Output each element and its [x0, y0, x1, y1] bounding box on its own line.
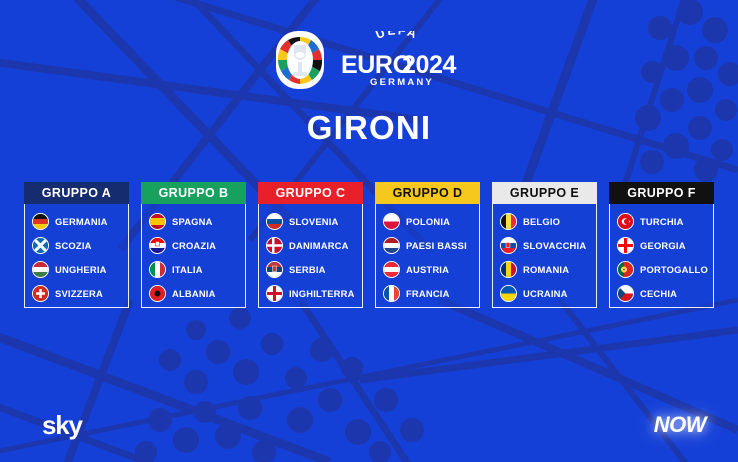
team-name: SCOZIA: [55, 240, 92, 251]
flag-germany-icon: [32, 213, 49, 230]
team-name: PAESI BASSI: [406, 240, 467, 251]
team-name: ITALIA: [172, 264, 203, 275]
team-name: POLONIA: [406, 216, 450, 227]
team-name: CROAZIA: [172, 240, 216, 251]
group-card-d: GRUPPO DPOLONIAPAESI BASSIAUSTRIAFRANCIA: [375, 182, 480, 308]
team-row: SERBIA: [266, 259, 358, 279]
team-row: POLONIA: [383, 211, 475, 231]
team-row: SLOVACCHIA: [500, 235, 592, 255]
flag-denmark-icon: [266, 237, 283, 254]
flag-switzerland-icon: [32, 285, 49, 302]
team-row: ALBANIA: [149, 283, 241, 303]
euro-2024-groups-graphic: UEFA EURO 2024 GERMANY GIRONI GRUPPO AGE…: [0, 0, 738, 462]
team-name: PORTOGALLO: [640, 264, 708, 275]
team-row: SLOVENIA: [266, 211, 358, 231]
team-row: INGHILTERRA: [266, 283, 358, 303]
group-card-e: GRUPPO EBELGIOSLOVACCHIAROMANIAUCRAINA: [492, 182, 597, 308]
flag-slovakia-icon: [500, 237, 517, 254]
group-card-b: GRUPPO BSPAGNACROAZIAITALIAALBANIA: [141, 182, 246, 308]
page-title: GIRONI: [0, 108, 738, 148]
flag-austria-icon: [383, 261, 400, 278]
group-team-list-d: POLONIAPAESI BASSIAUSTRIAFRANCIA: [375, 204, 480, 308]
flag-hungary-icon: [32, 261, 49, 278]
team-name: DANIMARCA: [289, 240, 349, 251]
team-name: SLOVACCHIA: [523, 240, 586, 251]
group-card-c: GRUPPO CSLOVENIADANIMARCASERBIAINGHILTER…: [258, 182, 363, 308]
team-row: UCRAINA: [500, 283, 592, 303]
flag-turkey-icon: [617, 213, 634, 230]
team-name: INGHILTERRA: [289, 288, 355, 299]
flag-romania-icon: [500, 261, 517, 278]
team-name: ROMANIA: [523, 264, 569, 275]
euro-trophy-emblem: [274, 29, 326, 91]
group-team-list-a: GERMANIASCOZIAUNGHERIASVIZZERA: [24, 204, 129, 308]
team-name: SLOVENIA: [289, 216, 339, 227]
group-header-a: GRUPPO A: [24, 182, 129, 204]
group-header-e: GRUPPO E: [492, 182, 597, 204]
groups-container: GRUPPO AGERMANIASCOZIAUNGHERIASVIZZERAGR…: [24, 182, 714, 308]
team-row: GEORGIA: [617, 235, 709, 255]
flag-belgium-icon: [500, 213, 517, 230]
euro-2024-logo: UEFA EURO 2024 GERMANY: [0, 24, 738, 96]
team-row: SPAGNA: [149, 211, 241, 231]
flag-scotland-icon: [32, 237, 49, 254]
flag-albania-icon: [149, 285, 166, 302]
group-header-d: GRUPPO D: [375, 182, 480, 204]
flag-spain-icon: [149, 213, 166, 230]
flag-portugal-icon: [617, 261, 634, 278]
team-row: AUSTRIA: [383, 259, 475, 279]
team-row: SCOZIA: [32, 235, 124, 255]
team-name: SVIZZERA: [55, 288, 103, 299]
group-card-f: GRUPPO FTURCHIAGEORGIAPORTOGALLOCECHIA: [609, 182, 714, 308]
team-row: UNGHERIA: [32, 259, 124, 279]
team-row: PAESI BASSI: [383, 235, 475, 255]
team-name: SPAGNA: [172, 216, 213, 227]
team-row: BELGIO: [500, 211, 592, 231]
host-text: GERMANY: [370, 77, 434, 88]
flag-poland-icon: [383, 213, 400, 230]
flag-slovenia-icon: [266, 213, 283, 230]
flag-croatia-icon: [149, 237, 166, 254]
team-row: CECHIA: [617, 283, 709, 303]
team-row: DANIMARCA: [266, 235, 358, 255]
team-row: ROMANIA: [500, 259, 592, 279]
team-name: UCRAINA: [523, 288, 568, 299]
group-header-f: GRUPPO F: [609, 182, 714, 204]
team-row: GERMANIA: [32, 211, 124, 231]
group-header-c: GRUPPO C: [258, 182, 363, 204]
flag-ukraine-icon: [500, 285, 517, 302]
team-row: TURCHIA: [617, 211, 709, 231]
team-row: FRANCIA: [383, 283, 475, 303]
team-name: FRANCIA: [406, 288, 450, 299]
flag-france-icon: [383, 285, 400, 302]
team-row: SVIZZERA: [32, 283, 124, 303]
group-header-b: GRUPPO B: [141, 182, 246, 204]
group-team-list-c: SLOVENIADANIMARCASERBIAINGHILTERRA: [258, 204, 363, 308]
team-name: BELGIO: [523, 216, 560, 227]
flag-czechia-icon: [617, 285, 634, 302]
team-name: GERMANIA: [55, 216, 108, 227]
team-name: AUSTRIA: [406, 264, 449, 275]
group-team-list-b: SPAGNACROAZIAITALIAALBANIA: [141, 204, 246, 308]
flag-italy-icon: [149, 261, 166, 278]
team-name: SERBIA: [289, 264, 326, 275]
year-text: 2024: [402, 51, 457, 79]
group-card-a: GRUPPO AGERMANIASCOZIAUNGHERIASVIZZERA: [24, 182, 129, 308]
flag-serbia-icon: [266, 261, 283, 278]
euro-2024-wordmark: UEFA EURO 2024 GERMANY: [340, 31, 465, 89]
svg-text:UEFA: UEFA: [373, 31, 420, 42]
flag-georgia-icon: [617, 237, 634, 254]
team-row: CROAZIA: [149, 235, 241, 255]
group-team-list-f: TURCHIAGEORGIAPORTOGALLOCECHIA: [609, 204, 714, 308]
team-row: ITALIA: [149, 259, 241, 279]
sky-logo: sky: [42, 412, 82, 438]
uefa-arc-text: UEFA: [373, 31, 420, 42]
flag-england-icon: [266, 285, 283, 302]
flag-netherlands-icon: [383, 237, 400, 254]
team-name: UNGHERIA: [55, 264, 107, 275]
team-name: TURCHIA: [640, 216, 684, 227]
now-logo: NOW: [654, 412, 706, 438]
group-team-list-e: BELGIOSLOVACCHIAROMANIAUCRAINA: [492, 204, 597, 308]
team-row: PORTOGALLO: [617, 259, 709, 279]
team-name: CECHIA: [640, 288, 677, 299]
team-name: ALBANIA: [172, 288, 216, 299]
team-name: GEORGIA: [640, 240, 686, 251]
